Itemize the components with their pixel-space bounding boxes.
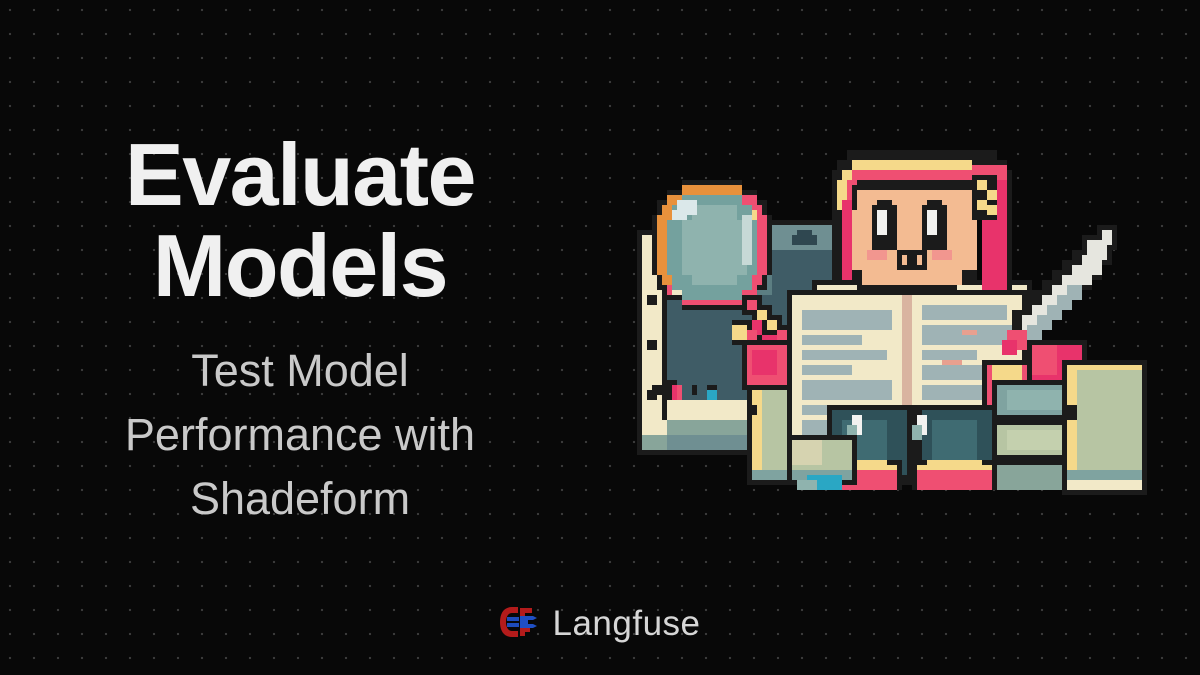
- banner-canvas: Evaluate Models Test Model Performance w…: [0, 0, 1200, 675]
- brand-lockup: Langfuse: [0, 604, 1200, 644]
- page-subtitle: Test Model Performance with Shadeform: [0, 339, 600, 531]
- pixel-art-character-reading-book-icon: [622, 140, 1182, 525]
- text-column: Evaluate Models Test Model Performance w…: [0, 130, 600, 531]
- page-title: Evaluate Models: [0, 130, 600, 311]
- title-line-2: Models: [40, 221, 560, 312]
- brand-name: Langfuse: [552, 604, 700, 644]
- langfuse-logo-icon: [499, 605, 539, 644]
- title-line-1: Evaluate: [40, 130, 560, 221]
